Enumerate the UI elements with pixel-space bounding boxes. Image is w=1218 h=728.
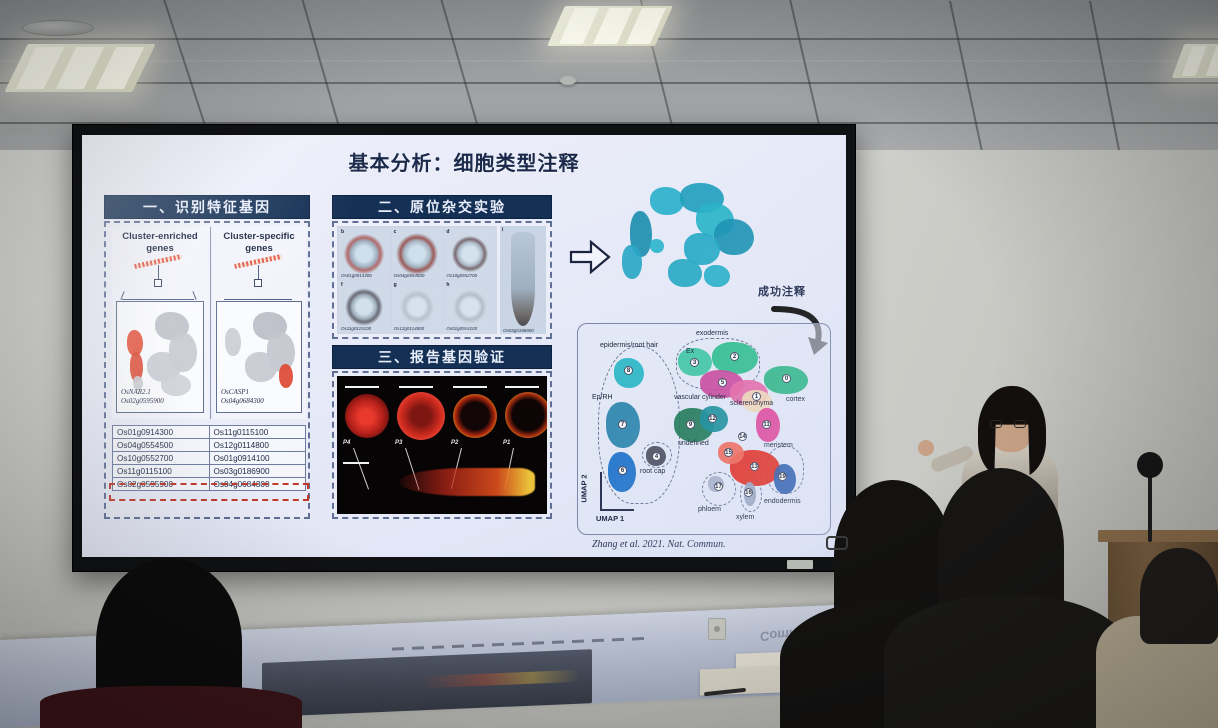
umap-xlabel: UMAP 1 bbox=[596, 514, 624, 523]
table-row: Os10g0552700 Os01g0914100 bbox=[113, 452, 306, 465]
ish-cell: d Os10g0552700 bbox=[444, 228, 495, 279]
gene-name-1: OsNAR2.1 bbox=[121, 388, 151, 396]
cluster-enriched-line2: genes bbox=[146, 243, 173, 254]
smoke-detector-icon bbox=[560, 76, 576, 85]
audience-glasses-icon bbox=[826, 536, 848, 550]
cluster-badge: 13 bbox=[750, 462, 759, 471]
gene-cell: Os03g0186900 bbox=[209, 465, 306, 478]
ish-tag: i bbox=[502, 227, 503, 233]
cluster-specific-line2: genes bbox=[245, 243, 272, 254]
presenter-hand bbox=[918, 440, 934, 456]
ish-micrograph-grid: b Os01g0914300 c Os04g0554500 d Os10g055… bbox=[337, 226, 497, 334]
ish-caption: Os01g0914300 bbox=[341, 273, 372, 278]
umap-label-ex: Ex bbox=[686, 348, 694, 355]
presenter-glasses-icon bbox=[990, 420, 1002, 428]
section-header-1: 一、识别特征基因 bbox=[104, 195, 310, 219]
table-reflection-dashes bbox=[392, 637, 652, 651]
cluster-badge: 11 bbox=[762, 420, 771, 429]
ish-tag: g bbox=[394, 282, 397, 288]
umap-label-sclerenchyma: sclerenchyma bbox=[730, 400, 773, 407]
table-row: Os01g0914300 Os11g0115100 bbox=[113, 426, 306, 439]
ish-tag: f bbox=[341, 282, 343, 288]
cluster-enriched-line1: Cluster-enriched bbox=[122, 231, 198, 242]
projection-screen[interactable]: 基本分析：细胞类型注释 一、识别特征基因 Cluster-enriched ge… bbox=[72, 124, 856, 572]
gene-name-2: OsCASP1 bbox=[221, 388, 249, 396]
cluster-badge: 17 bbox=[714, 482, 723, 491]
cluster-specific-line1: Cluster-specific bbox=[223, 231, 294, 242]
umap-x-axis bbox=[600, 509, 634, 511]
confocal-section-p4 bbox=[345, 394, 389, 438]
cluster-badge: 2 bbox=[730, 352, 739, 361]
gene-cell: Os11g0115100 bbox=[113, 465, 210, 478]
cluster-badge: 14 bbox=[738, 432, 747, 441]
gene-cell: Os04g0554500 bbox=[113, 439, 210, 452]
ish-root-tip-micrograph: i Os03g0186900 bbox=[500, 226, 546, 334]
presentation-slide: 基本分析：细胞类型注释 一、识别特征基因 Cluster-enriched ge… bbox=[82, 135, 846, 557]
ish-cell: b Os01g0914300 bbox=[339, 228, 390, 279]
wall-power-outlet-icon bbox=[708, 618, 726, 640]
flow-arrow-icon bbox=[569, 239, 611, 275]
screen-brand-badge bbox=[787, 560, 813, 569]
podium-top bbox=[1098, 530, 1218, 542]
ish-caption: Os04g0554500 bbox=[394, 273, 425, 278]
cluster-badge: 19 bbox=[778, 472, 787, 481]
cluster-badge: 9 bbox=[686, 420, 695, 429]
section-header-3: 三、报告基因验证 bbox=[332, 345, 552, 369]
audience-shoulders-1 bbox=[40, 686, 302, 728]
table-row: Os11g0115100 Os03g0186900 bbox=[113, 465, 306, 478]
ish-tag: d bbox=[446, 229, 449, 235]
cluster-badge: 8 bbox=[624, 366, 633, 375]
gene-cell: Os02g0595900 bbox=[113, 478, 210, 491]
umap-label-endodermis: endodermis bbox=[764, 498, 801, 505]
cluster-badge: 6 bbox=[618, 466, 627, 475]
umap-label-epidermis-root-hair: epidermis/root hair bbox=[600, 342, 658, 349]
mini-umap-osnar21: OsNAR2.1 Os02g0595900 bbox=[116, 301, 204, 413]
umap-y-axis bbox=[600, 472, 602, 510]
umap-label-vascular-cylinder: vascular cylinder bbox=[674, 394, 726, 401]
table-row: Os04g0554500 Os12g0114800 bbox=[113, 439, 306, 452]
ish-tag: h bbox=[446, 282, 449, 288]
cluster-enriched-title: Cluster-enriched genes bbox=[114, 231, 206, 255]
cluster-badge: 16 bbox=[744, 488, 753, 497]
gene-cell: Os11g0115100 bbox=[209, 426, 306, 439]
umap-label-phloem: phloem bbox=[698, 506, 721, 513]
ish-cell: h Os01g0914100 bbox=[444, 281, 495, 332]
ish-tag: c bbox=[394, 229, 397, 235]
cluster-badge: 3 bbox=[690, 358, 699, 367]
confocal-section-p2 bbox=[453, 394, 497, 438]
cluster-specific-title: Cluster-specific genes bbox=[214, 231, 304, 255]
node-square-specific bbox=[254, 279, 262, 287]
ish-tag: b bbox=[341, 229, 344, 235]
annotation-success-note: 成功注释 bbox=[758, 283, 806, 299]
cluster-badge: 4 bbox=[652, 452, 661, 461]
ish-caption: Os12g0114800 bbox=[394, 326, 424, 331]
ish-caption: Os10g0552700 bbox=[446, 273, 477, 278]
umap-label-undefined: undefined bbox=[678, 440, 709, 447]
slide-citation: Zhang et al. 2021. Nat. Commun. bbox=[592, 539, 726, 550]
cluster-badge: 15 bbox=[724, 448, 733, 457]
section-header-2: 二、原位杂交实验 bbox=[332, 195, 552, 219]
gene-label-osnar21: OsNAR2.1 Os02g0595900 bbox=[121, 388, 164, 407]
fluorescent-panel-light bbox=[4, 44, 155, 92]
annotated-umap-plot: 8 7 6 3 2 0 5 1 9 12 11 4 15 13 19 17 16… bbox=[577, 323, 831, 535]
stage-label-p2: P2 bbox=[451, 440, 458, 446]
ish-caption: Os03g0186900 bbox=[503, 328, 534, 333]
audience-shoulders-3 bbox=[884, 596, 1130, 728]
umap-label-xylem: xylem bbox=[736, 514, 754, 521]
presenter-glasses-icon-right bbox=[1014, 420, 1026, 428]
gene-label-oscasp1: OsCASP1 Os04g0684300 bbox=[221, 388, 264, 407]
fluorescent-panel-light-2 bbox=[547, 6, 673, 46]
microphone-icon bbox=[1137, 452, 1163, 478]
marker-gene-table: Os01g0914300 Os11g0115100 Os04g0554500 O… bbox=[112, 425, 306, 491]
confocal-section-p1 bbox=[505, 392, 547, 438]
gene-cell: Os12g0114800 bbox=[209, 439, 306, 452]
gene-id-2: Os04g0684300 bbox=[221, 397, 264, 405]
umap-label-cortex: cortex bbox=[786, 396, 805, 403]
stage-label-p4: P4 bbox=[343, 440, 350, 446]
gene-cell: Os10g0552700 bbox=[113, 452, 210, 465]
gene-id-1: Os02g0595900 bbox=[121, 397, 164, 405]
cluster-badge: 7 bbox=[618, 420, 627, 429]
ish-cell: c Os04g0554500 bbox=[392, 228, 443, 279]
ish-cell: g Os12g0114800 bbox=[392, 281, 443, 332]
confocal-longitudinal-root bbox=[399, 468, 535, 496]
umap-label-meristem: meristem bbox=[764, 442, 793, 449]
cluster-badge: 5 bbox=[718, 378, 727, 387]
fluorescent-panel-light-3 bbox=[1172, 44, 1218, 78]
umap-ylabel: UMAP 2 bbox=[580, 474, 589, 502]
cluster-badge: 0 bbox=[782, 374, 791, 383]
stage-label-p1: P1 bbox=[503, 440, 510, 446]
confocal-section-p3 bbox=[397, 392, 445, 440]
umap-label-ep-rh: Ep/RH bbox=[592, 394, 613, 401]
umap-label-root-cap: root cap bbox=[640, 468, 665, 475]
conference-room-scene: 基本分析：细胞类型注释 一、识别特征基因 Cluster-enriched ge… bbox=[0, 0, 1218, 728]
ish-cell: f Os11g0115100 bbox=[339, 281, 390, 332]
table-row-highlighted: Os02g0595900 Os04g0684300 bbox=[113, 478, 306, 491]
cluster-badge: 12 bbox=[708, 414, 717, 423]
gene-cell: Os01g0914300 bbox=[113, 426, 210, 439]
audience-head-4 bbox=[1140, 548, 1218, 644]
ceiling-vent-icon bbox=[22, 20, 94, 36]
gene-cell: Os04g0684300 bbox=[209, 478, 306, 491]
mini-umap-oscasp1: OsCASP1 Os04g0684300 bbox=[216, 301, 302, 413]
node-square-enriched bbox=[154, 279, 162, 287]
ish-caption: Os01g0914100 bbox=[446, 326, 477, 331]
ish-caption: Os11g0115100 bbox=[341, 326, 371, 331]
gene-cell: Os01g0914100 bbox=[209, 452, 306, 465]
slide-title: 基本分析：细胞类型注释 bbox=[82, 147, 846, 176]
confocal-reporter-images: P4 P3 P2 P1 bbox=[337, 376, 547, 514]
stage-label-p3: P3 bbox=[395, 440, 402, 446]
umap-label-exodermis: exodermis bbox=[696, 330, 728, 337]
